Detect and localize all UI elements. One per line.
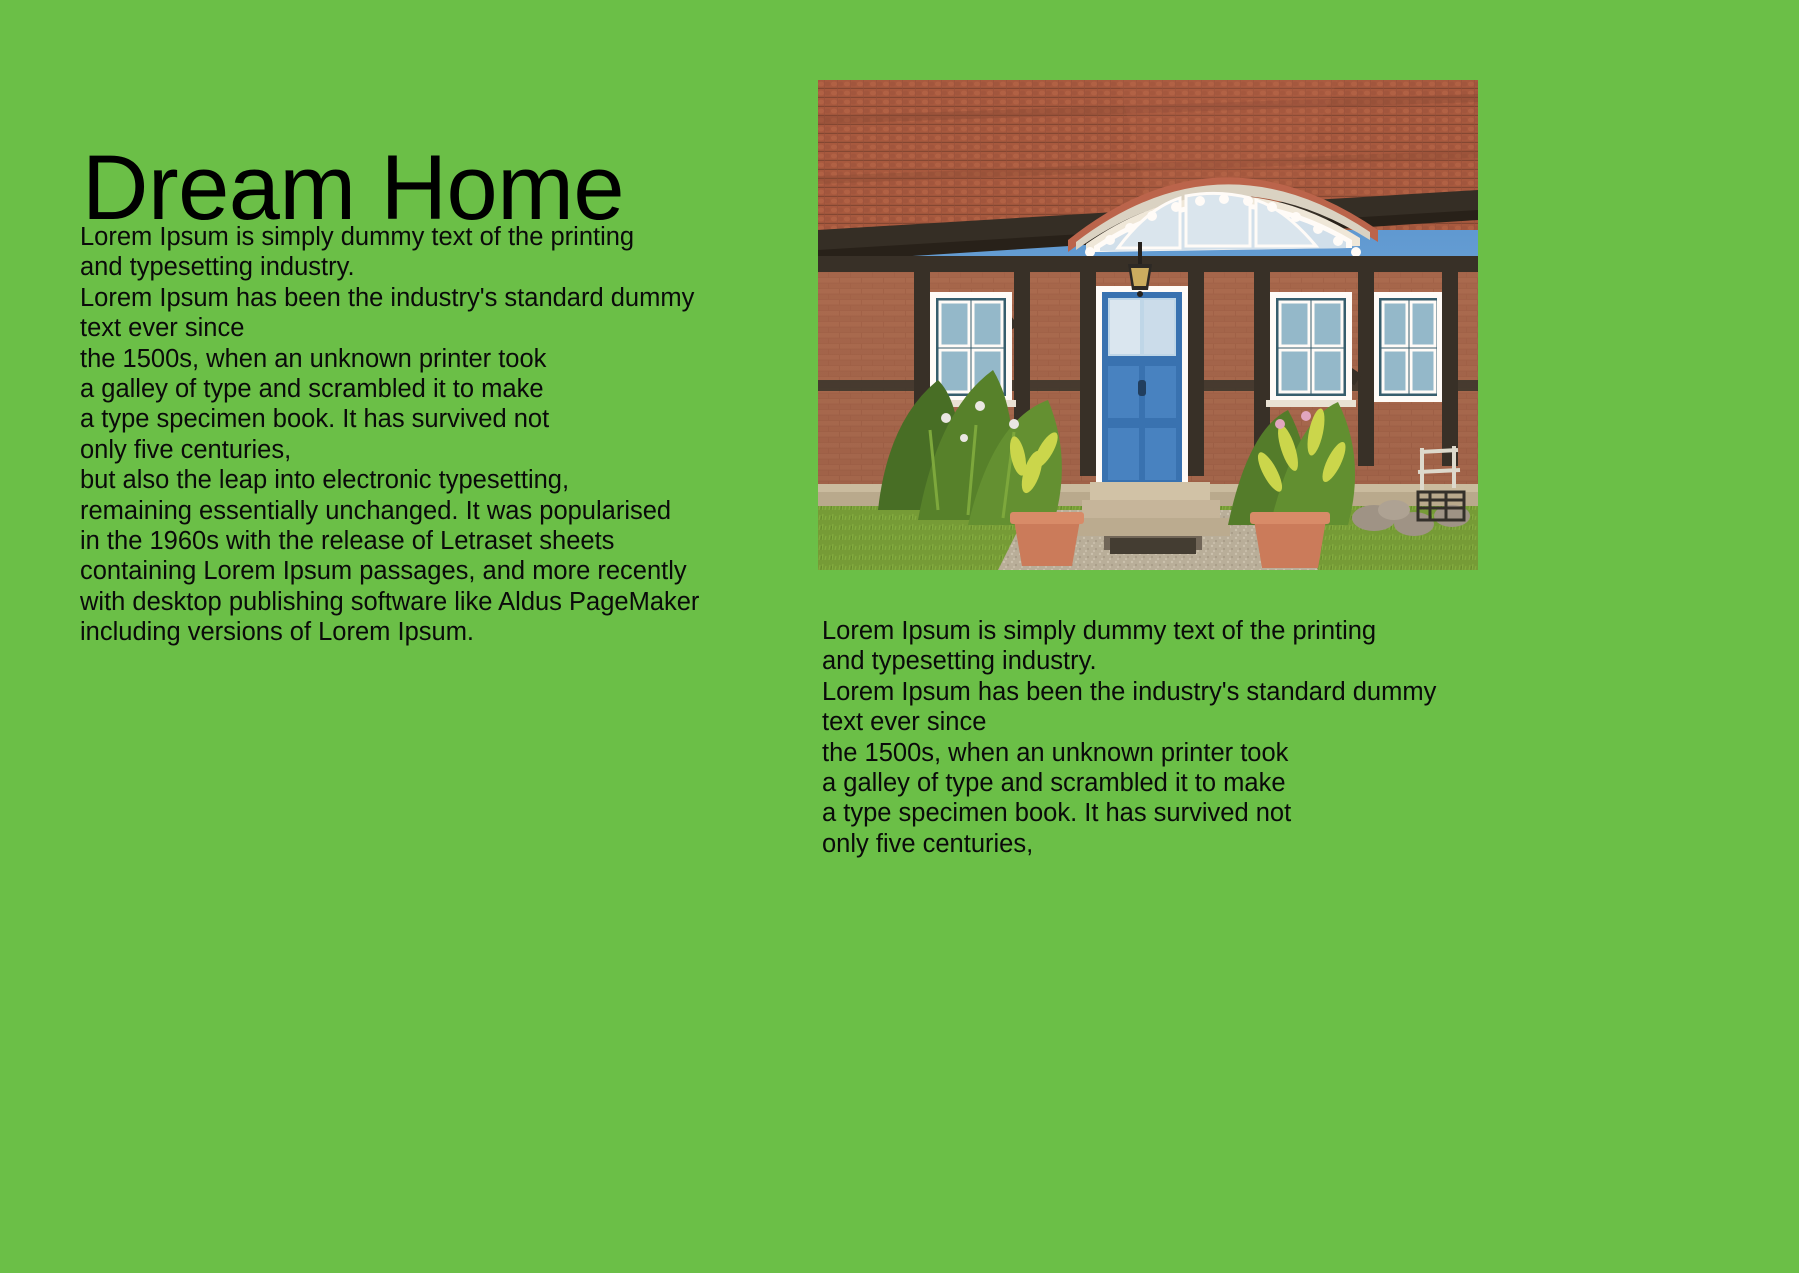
left-text-line-13: with desktop publishing software like Al… xyxy=(80,587,780,617)
right-text-line-6: a galley of type and scrambled it to mak… xyxy=(822,768,1522,798)
left-text-line-11: in the 1960s with the release of Letrase… xyxy=(80,526,780,556)
left-body-text: Lorem Ipsum is simply dummy text of the … xyxy=(80,222,780,648)
left-text-line-10: remaining essentially unchanged. It was … xyxy=(80,496,780,526)
slide-canvas: Dream Home Lorem Ipsum is simply dummy t… xyxy=(0,0,1799,1273)
right-text-line-1: Lorem Ipsum is simply dummy text of the … xyxy=(822,616,1522,646)
right-body-text: Lorem Ipsum is simply dummy text of the … xyxy=(822,616,1522,859)
left-text-line-6: a galley of type and scrambled it to mak… xyxy=(80,374,780,404)
right-text-line-3: Lorem Ipsum has been the industry's stan… xyxy=(822,677,1522,707)
right-text-line-5: the 1500s, when an unknown printer took xyxy=(822,738,1522,768)
right-text-line-8: only five centuries, xyxy=(822,829,1522,859)
left-text-line-8: only five centuries, xyxy=(80,435,780,465)
right-text-line-4: text ever since xyxy=(822,707,1522,737)
left-text-line-7: a type specimen book. It has survived no… xyxy=(80,404,780,434)
house-photo-illustration xyxy=(818,80,1478,570)
house-photo xyxy=(818,80,1478,570)
left-text-line-12: containing Lorem Ipsum passages, and mor… xyxy=(80,556,780,586)
left-text-line-2: and typesetting industry. xyxy=(80,252,780,282)
left-text-line-3: Lorem Ipsum has been the industry's stan… xyxy=(80,283,780,313)
left-text-line-1: Lorem Ipsum is simply dummy text of the … xyxy=(80,222,780,252)
right-text-line-7: a type specimen book. It has survived no… xyxy=(822,798,1522,828)
left-text-line-5: the 1500s, when an unknown printer took xyxy=(80,344,780,374)
left-text-line-9: but also the leap into electronic typese… xyxy=(80,465,780,495)
right-text-line-2: and typesetting industry. xyxy=(822,646,1522,676)
left-text-line-14: including versions of Lorem Ipsum. xyxy=(80,617,780,647)
left-text-line-4: text ever since xyxy=(80,313,780,343)
